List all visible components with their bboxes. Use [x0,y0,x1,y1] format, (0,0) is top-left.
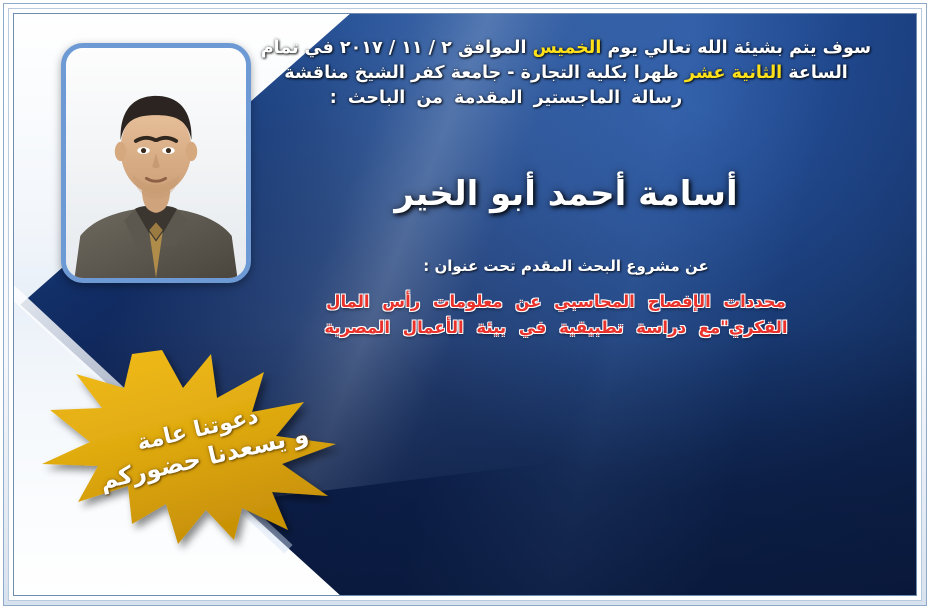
poster-frame-inner: سوف يتم بشيئة الله تعالي يوم الخميس المو… [13,13,917,596]
starburst-icon [36,344,366,544]
thesis-title-line-1: محددات الإفصاح المحاسبي عن معلومات رأس ا… [236,289,876,315]
research-subtitle: عن مشروع البحث المقدم تحت عنوان : [256,257,876,275]
thesis-title: محددات الإفصاح المحاسبي عن معلومات رأس ا… [236,289,876,340]
researcher-photo [61,43,251,283]
announcement-hour-first: الثانية [732,63,783,83]
announcement-line-3: رسالة الماجستير المقدمة من الباحث : [256,86,876,111]
announcement-line-2-part-e: ظهرا بكلية التجارة - جامعة كفر الشيخ منا… [284,63,685,83]
researcher-name: أسامة أحمد أبو الخير [256,174,876,214]
announcement-line-1-part-c: الموافق ٢ / ١١ / ٢٠١٧ في تمام [261,38,533,58]
announcement-line-1: سوف يتم بشيئة الله تعالي يوم الخميس المو… [256,36,876,61]
thesis-title-line-2: الفكري"مع دراسة تطبيقية في بيئة الأعمال … [236,315,876,341]
announcement-hour-second: عشر [685,63,726,83]
announcement-line-1-part-a: سوف يتم بشيئة الله تعالي يوم [601,38,871,58]
announcement-header: سوف يتم بشيئة الله تعالي يوم الخميس المو… [256,36,876,111]
announcement-day: الخميس [533,38,602,58]
announcement-line-2: الساعة الثانية عشر ظهرا بكلية التجارة - … [256,61,876,86]
invitation-poster: سوف يتم بشيئة الله تعالي يوم الخميس المو… [0,0,930,609]
invitation-starburst: دعوتنا عامة و يسعدنا حضوركم [36,344,366,544]
announcement-line-2-part-a: الساعة [782,63,848,83]
portrait-photo-icon [66,48,246,278]
